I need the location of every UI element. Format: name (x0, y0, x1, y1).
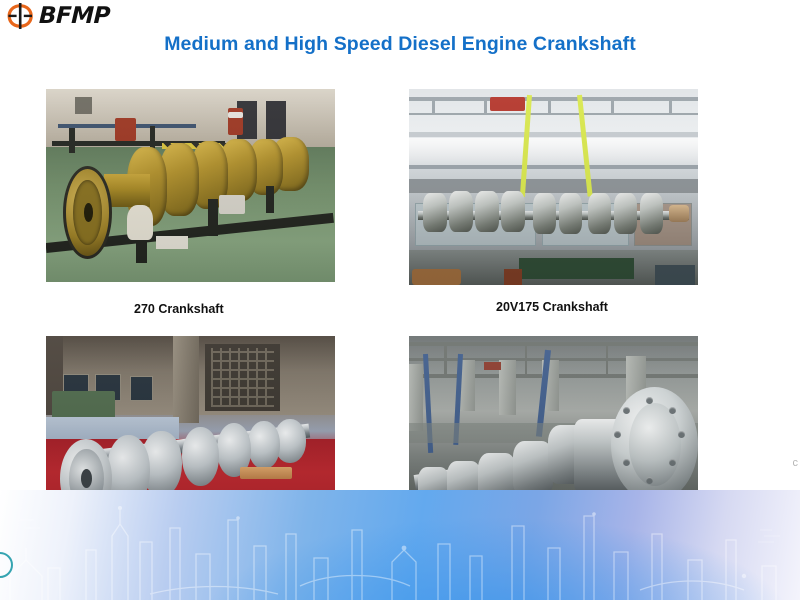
bfmp-phi-logo-icon (6, 3, 34, 29)
corner-glyph: c (793, 457, 799, 469)
presentation-slide: BFMP Medium and High Speed Diesel Engine… (0, 0, 800, 600)
slide-title: Medium and High Speed Diesel Engine Cran… (0, 33, 800, 56)
brand-logo-text: BFMP (39, 3, 111, 29)
photo-20v175-crankshaft (409, 89, 698, 285)
brand-logo: BFMP (6, 2, 110, 30)
caption-20v175-crankshaft: 20V175 Crankshaft (496, 300, 608, 314)
city-skyline-outline-icon (0, 490, 800, 600)
slide-footer-band (0, 490, 800, 600)
photo-270-crankshaft (46, 89, 335, 282)
caption-270-crankshaft: 270 Crankshaft (134, 302, 224, 316)
